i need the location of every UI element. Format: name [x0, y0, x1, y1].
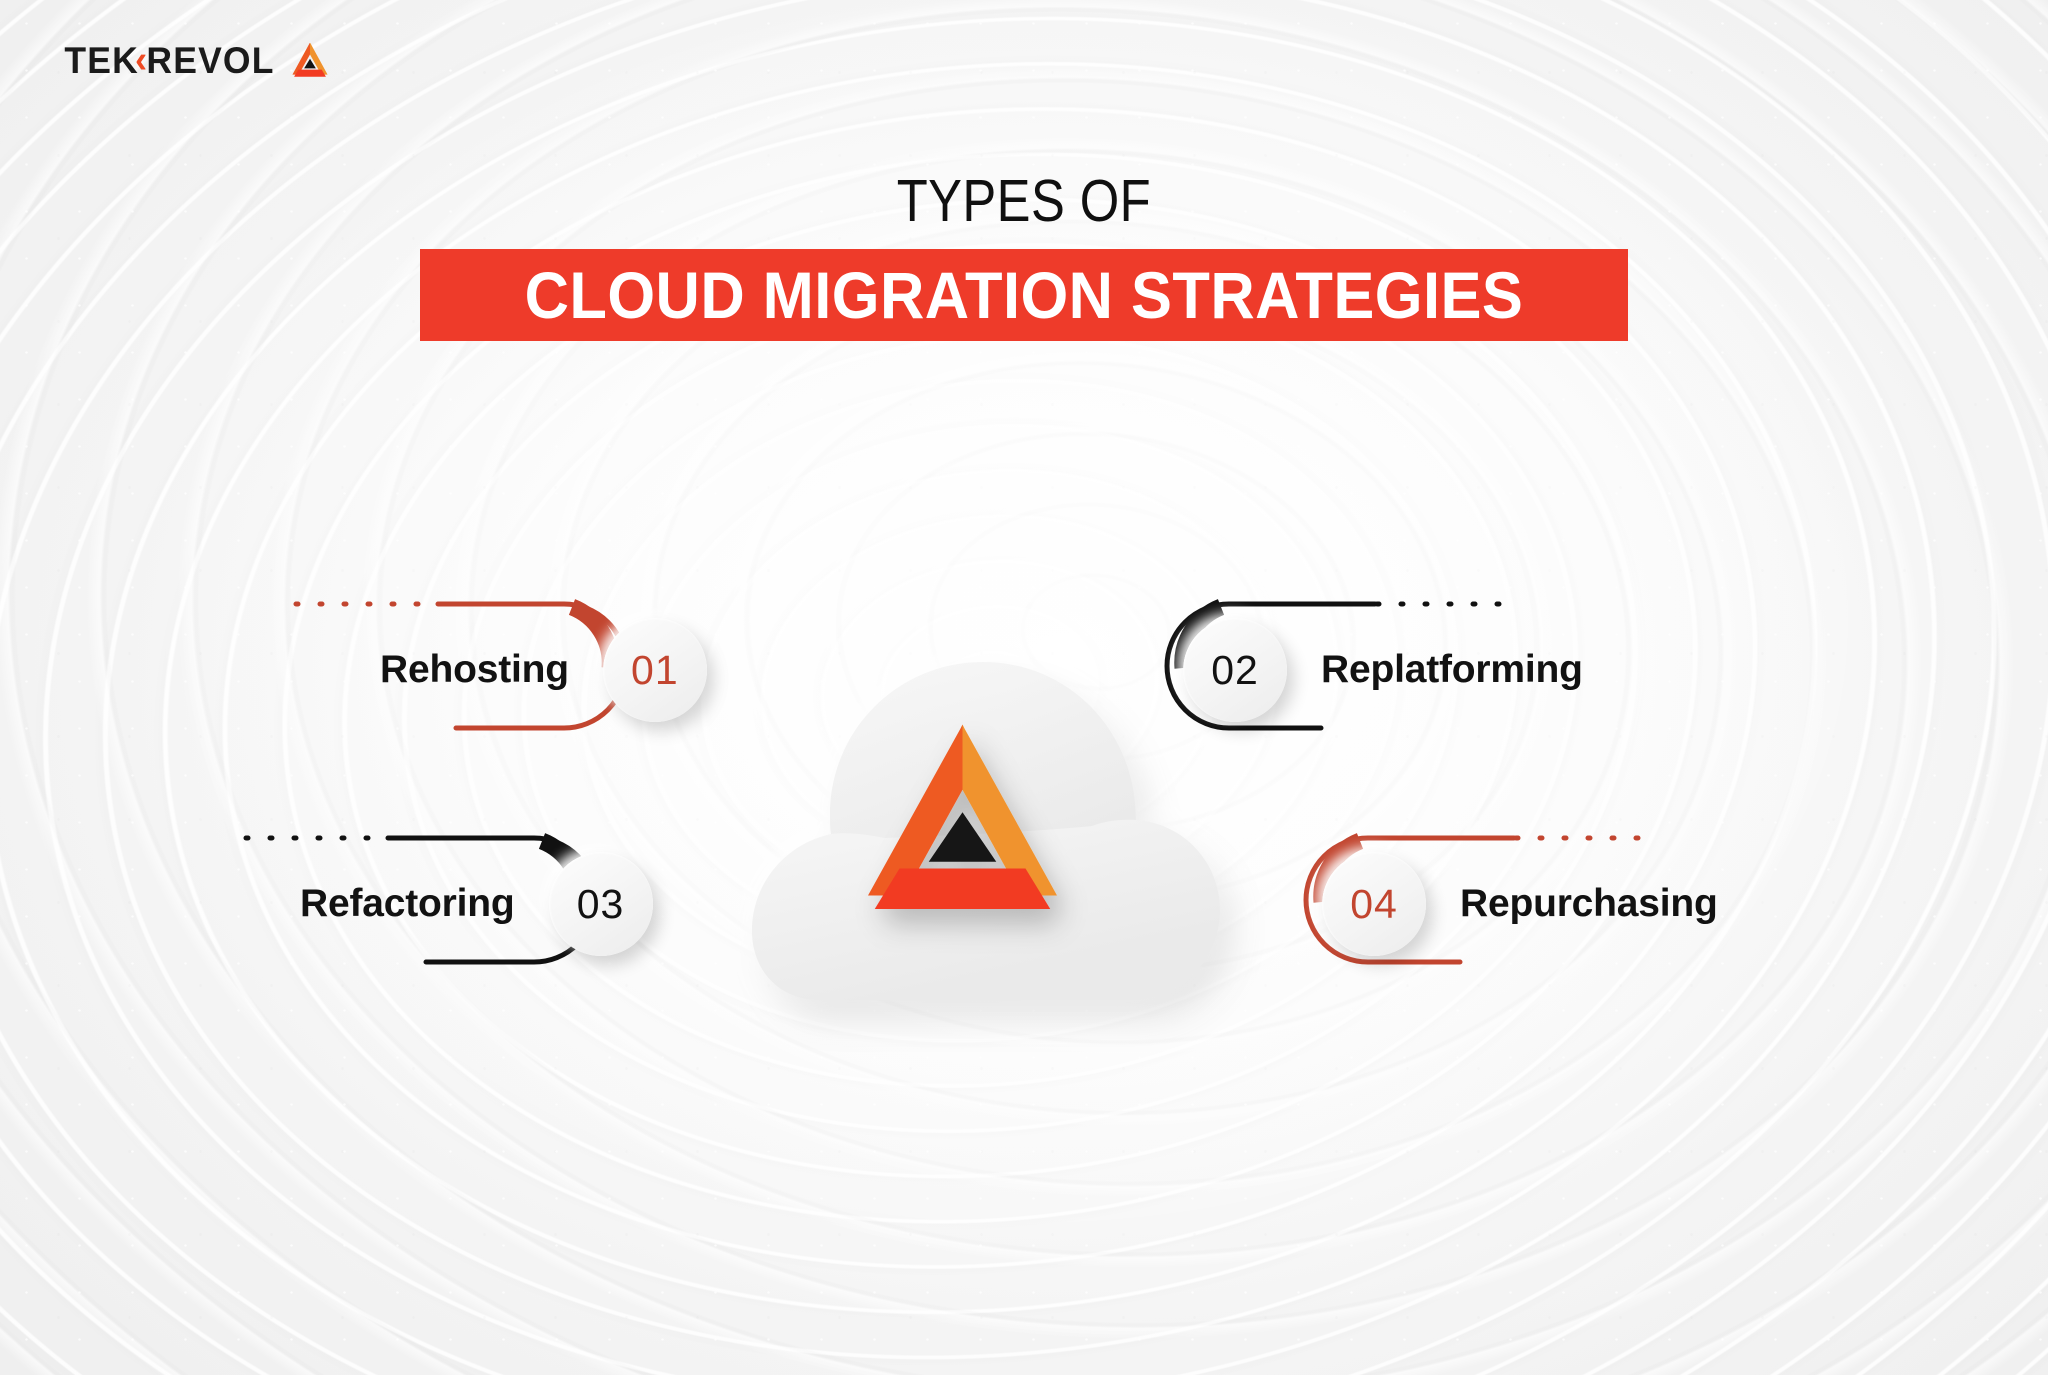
node-label-replatforming: Replatforming [1321, 648, 1583, 692]
node-circle-03[interactable]: 03 [549, 852, 653, 956]
node-label-refactoring: Refactoring [300, 882, 515, 926]
brand-logo[interactable]: TEK‹REVOL [60, 30, 331, 90]
heading-band: CLOUD MIGRATION STRATEGIES [420, 249, 1628, 341]
infographic-canvas: TEK‹REVOL TYPES OF CLOUD MIGRATION STRAT… [0, 0, 2048, 1375]
node-number-04: 04 [1350, 884, 1398, 925]
brand-wordmark-part-a: TEK [64, 42, 139, 79]
node-label-repurchasing: Repurchasing [1460, 882, 1718, 926]
brand-wordmark-part-b: REVOL [146, 42, 274, 79]
node-circle-01[interactable]: 01 [603, 618, 707, 722]
heading-line-1: TYPES OF [897, 172, 1151, 231]
node-number-01: 01 [631, 650, 679, 691]
page-heading: TYPES OF CLOUD MIGRATION STRATEGIES [0, 172, 2048, 341]
node-item-repurchasing[interactable]: 04 Repurchasing [1322, 852, 1718, 956]
node-number-02: 02 [1211, 650, 1259, 691]
node-item-refactoring[interactable]: Refactoring 03 [300, 852, 653, 956]
brand-wordmark: TEK‹REVOL [64, 41, 274, 79]
node-circle-04[interactable]: 04 [1322, 852, 1426, 956]
node-item-replatforming[interactable]: 02 Replatforming [1183, 618, 1583, 722]
heading-line-2: CLOUD MIGRATION STRATEGIES [525, 262, 1524, 328]
node-label-rehosting: Rehosting [380, 648, 569, 692]
tekrevol-triangle-logo-icon [289, 42, 331, 78]
node-circle-02[interactable]: 02 [1183, 618, 1287, 722]
node-item-rehosting[interactable]: Rehosting 01 [380, 618, 707, 722]
node-number-03: 03 [577, 884, 625, 925]
